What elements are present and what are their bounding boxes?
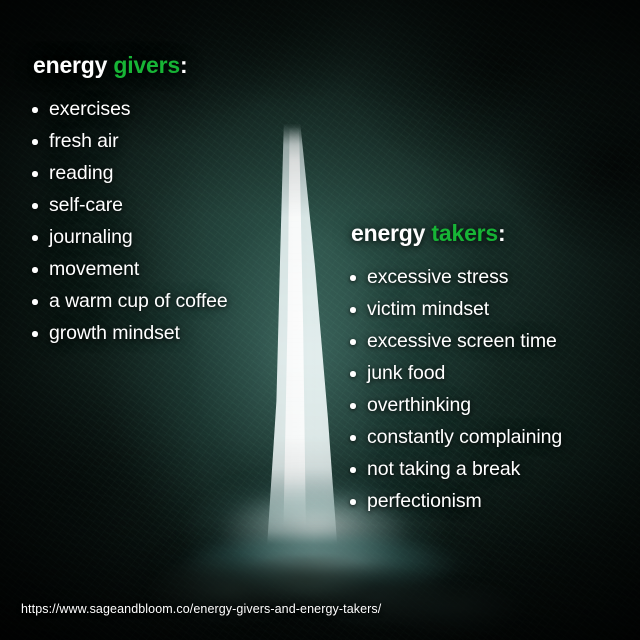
energy-takers-list: excessive stress victim mindset excessiv… [348,261,636,517]
heading-accent-takers: takers [431,220,498,246]
poster-canvas: energy givers: exercises fresh air readi… [0,0,640,640]
list-item: victim mindset [348,293,636,325]
list-item: reading [30,157,330,189]
poster-content: energy givers: exercises fresh air readi… [0,0,640,640]
heading-prefix: energy [33,52,113,78]
energy-takers-column: energy takers: excessive stress victim m… [348,220,636,517]
energy-takers-heading: energy takers: [351,220,636,247]
list-item: perfectionism [348,485,636,517]
list-item: exercises [30,93,330,125]
energy-givers-list: exercises fresh air reading self-care jo… [30,93,330,349]
energy-givers-heading: energy givers: [33,52,330,79]
list-item: fresh air [30,125,330,157]
list-item: not taking a break [348,453,636,485]
list-item: a warm cup of coffee [30,285,330,317]
source-url[interactable]: https://www.sageandbloom.co/energy-giver… [21,602,381,616]
list-item: growth mindset [30,317,330,349]
list-item: junk food [348,357,636,389]
list-item: journaling [30,221,330,253]
list-item: constantly complaining [348,421,636,453]
list-item: overthinking [348,389,636,421]
list-item: movement [30,253,330,285]
list-item: excessive stress [348,261,636,293]
heading-accent-givers: givers [113,52,180,78]
list-item: excessive screen time [348,325,636,357]
heading-colon: : [498,220,505,246]
heading-prefix: energy [351,220,431,246]
energy-givers-column: energy givers: exercises fresh air readi… [30,52,330,349]
heading-colon: : [180,52,187,78]
list-item: self-care [30,189,330,221]
